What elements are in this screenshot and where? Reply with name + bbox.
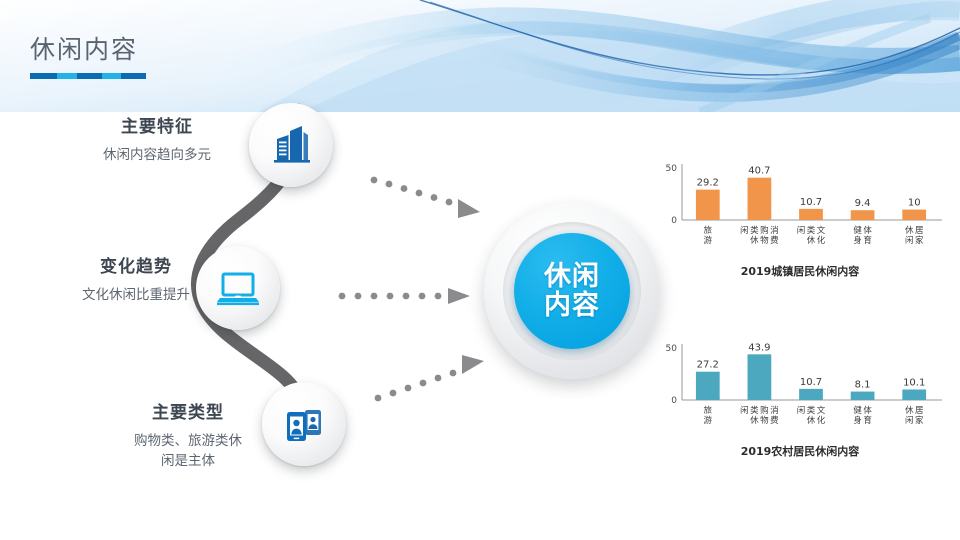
svg-text:费: 费 [770, 415, 779, 426]
svg-text:40.7: 40.7 [748, 166, 770, 177]
svg-text:类: 类 [807, 405, 816, 416]
dotted-arrow-1 [368, 172, 488, 228]
svg-text:体: 体 [863, 225, 872, 236]
feature-text-block-3: 主要类型 购物类、旅游类休 闲是主体 [98, 398, 278, 471]
feature-text-block-2: 变化趋势 文化休闲比重提升 [36, 252, 236, 306]
svg-text:50: 50 [666, 344, 678, 354]
chart-urban-title: 2019城镇居民休闲内容 [652, 263, 948, 279]
svg-text:类: 类 [750, 405, 759, 416]
feature-subtext-3-line2: 闲是主体 [98, 452, 278, 472]
svg-text:文: 文 [817, 225, 826, 236]
svg-text:27.2: 27.2 [697, 360, 719, 371]
svg-text:物: 物 [760, 415, 769, 426]
svg-text:家: 家 [915, 235, 924, 246]
svg-text:化: 化 [817, 235, 826, 246]
svg-text:9.4: 9.4 [855, 198, 871, 209]
svg-text:化: 化 [817, 415, 826, 426]
feature-heading-3: 主要类型 [98, 398, 278, 423]
chart-rural-plot: 05027.2旅游43.9消费购物类休闲10.7文化类休闲8.1体育健身10.1… [652, 338, 948, 436]
svg-text:类: 类 [807, 225, 816, 236]
office-buildings-icon [268, 122, 314, 168]
svg-text:消: 消 [770, 405, 779, 416]
svg-text:家: 家 [915, 415, 924, 426]
chart-rural-title: 2019农村居民休闲内容 [652, 443, 948, 459]
svg-text:育: 育 [863, 415, 872, 426]
svg-text:休: 休 [905, 225, 914, 236]
chart-rural-residents: 05027.2旅游43.9消费购物类休闲10.7文化类休闲8.1体育健身10.1… [652, 338, 948, 459]
svg-text:休: 休 [807, 415, 816, 426]
feature-text-block-1: 主要特征 休闲内容趋向多元 [62, 112, 252, 166]
svg-text:0: 0 [671, 216, 677, 226]
dotted-arrow-3 [372, 352, 492, 408]
svg-text:闲: 闲 [905, 236, 914, 246]
chart-urban-plot: 05029.2旅游40.7消费购物类休闲10.7文化类休闲9.4体育健身10居家… [652, 158, 948, 256]
svg-text:购: 购 [760, 405, 769, 416]
svg-text:8.1: 8.1 [855, 380, 871, 391]
svg-text:旅: 旅 [704, 225, 713, 236]
svg-text:健: 健 [853, 405, 862, 416]
svg-text:物: 物 [760, 235, 769, 246]
id-cards-people-icon [281, 403, 327, 445]
svg-text:健: 健 [853, 225, 862, 236]
center-disc: 休闲 内容 [514, 233, 630, 349]
chart-urban-residents: 05029.2旅游40.7消费购物类休闲10.7文化类休闲9.4体育健身10居家… [652, 158, 948, 279]
svg-text:文: 文 [817, 405, 826, 416]
svg-text:休: 休 [750, 415, 759, 426]
feature-heading-1: 主要特征 [62, 112, 252, 137]
svg-text:消: 消 [770, 225, 779, 236]
svg-text:购: 购 [760, 225, 769, 236]
svg-text:闲: 闲 [797, 406, 806, 416]
page-title: 休闲内容 [30, 30, 146, 66]
svg-text:闲: 闲 [905, 416, 914, 426]
feature-subtext-3-line1: 购物类、旅游类休 [98, 432, 278, 452]
svg-text:游: 游 [704, 235, 713, 246]
svg-text:50: 50 [666, 164, 678, 174]
center-label-line2: 内容 [544, 291, 600, 320]
feature-subtext-3: 购物类、旅游类休 闲是主体 [98, 432, 278, 471]
svg-text:游: 游 [704, 415, 713, 426]
svg-text:闲: 闲 [797, 226, 806, 236]
center-badge[interactable]: 休闲 内容 [484, 203, 660, 379]
svg-text:10.7: 10.7 [800, 377, 822, 388]
svg-text:身: 身 [853, 415, 862, 426]
svg-text:43.9: 43.9 [748, 342, 770, 353]
dotted-arrow-2 [336, 283, 472, 309]
svg-text:居: 居 [915, 226, 924, 236]
slide-canvas: 休闲内容 [0, 0, 960, 540]
feature-subtext-1: 休闲内容趋向多元 [62, 146, 252, 166]
svg-text:居: 居 [915, 406, 924, 416]
feature-icon-circle-1[interactable] [249, 103, 333, 187]
feature-heading-2: 变化趋势 [36, 252, 236, 277]
svg-text:29.2: 29.2 [697, 178, 719, 189]
svg-text:休: 休 [905, 405, 914, 416]
svg-text:10: 10 [908, 198, 921, 209]
svg-text:体: 体 [863, 405, 872, 416]
svg-text:闲: 闲 [740, 226, 749, 236]
page-title-block: 休闲内容 [30, 30, 146, 79]
title-underline [30, 73, 146, 79]
svg-text:闲: 闲 [740, 406, 749, 416]
svg-text:10.7: 10.7 [800, 197, 822, 208]
center-label-line1: 休闲 [544, 262, 600, 291]
svg-text:休: 休 [807, 235, 816, 246]
feature-subtext-2: 文化休闲比重提升 [36, 286, 236, 306]
svg-text:休: 休 [750, 235, 759, 246]
svg-text:0: 0 [671, 396, 677, 406]
svg-text:费: 费 [770, 235, 779, 246]
svg-text:育: 育 [863, 235, 872, 246]
svg-text:旅: 旅 [704, 405, 713, 416]
svg-text:类: 类 [750, 225, 759, 236]
svg-text:10.1: 10.1 [903, 377, 925, 388]
svg-text:身: 身 [853, 235, 862, 246]
